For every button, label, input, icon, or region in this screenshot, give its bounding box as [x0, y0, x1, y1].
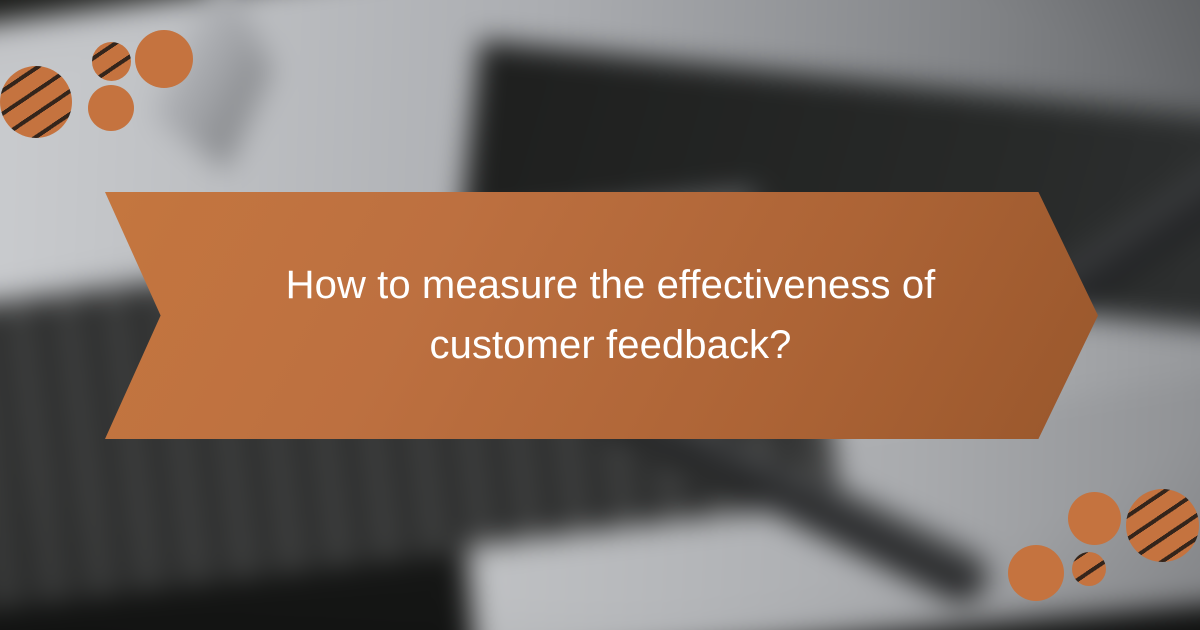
- decor-circle-striped-lg-br: [1126, 489, 1199, 562]
- decor-circle-solid-large-br: [1008, 545, 1064, 601]
- decor-circle-solid-mid-br: [1068, 492, 1121, 545]
- title-chevron-banner: How to measure the effectiveness of cust…: [105, 192, 1098, 439]
- decor-circle-solid-large: [135, 30, 193, 88]
- decor-circle-striped-sm-br: [1072, 552, 1106, 586]
- banner-image-canvas: How to measure the effectiveness of cust…: [0, 0, 1200, 630]
- decor-circle-solid-medium: [88, 85, 134, 131]
- page-title: How to measure the effectiveness of cust…: [246, 256, 976, 374]
- decor-circle-striped-large: [0, 66, 72, 138]
- decor-circle-striped-small: [92, 42, 131, 81]
